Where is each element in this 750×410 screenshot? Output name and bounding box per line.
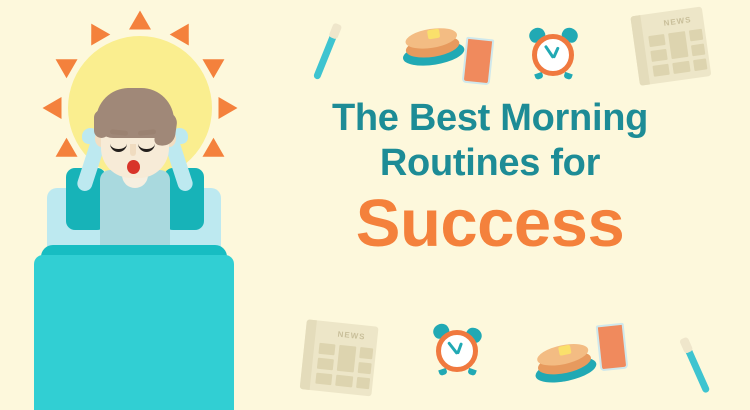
orange-juice-glass-icon [593,320,630,373]
toothbrush-bristles [328,22,342,39]
toothbrush-icon [668,323,734,397]
clock-face [532,34,574,76]
juice-glass [462,37,495,86]
butter-pat [427,29,440,40]
newspaper-fold [630,15,650,86]
banner-title: The Best Morning Routines for Success [288,96,692,258]
newspaper-block [648,34,665,47]
newspaper-photo [668,31,688,59]
title-line-2: Routines for [288,141,692,186]
orange-juice-glass-icon [459,34,496,87]
newspaper-block [358,362,372,374]
sun-ray [43,97,62,119]
toothbrush-handle [313,33,337,80]
sun-ray [219,97,238,119]
newspaper-block [689,29,703,42]
newspaper-block [652,64,669,77]
newspaper-icon: NEWS [627,3,717,91]
toothbrush-icon [302,16,367,89]
clock-foot-right [467,368,477,376]
nose [130,144,136,156]
toothbrush-handle [684,347,710,394]
newspaper-block [693,58,707,71]
morning-routines-banner: The Best Morning Routines for Success NE… [0,0,750,410]
title-accent-success: Success [288,190,692,258]
newspaper-block [317,358,334,371]
bed-blanket [34,255,234,410]
alarm-clock-icon [428,322,488,382]
newspaper-masthead: NEWS [337,330,366,342]
newspaper-block [672,61,690,74]
newspaper-block [318,343,335,356]
title-line-1: The Best Morning [288,96,692,141]
newspaper-icon: NEWS [296,316,384,402]
sun-ray [170,18,199,45]
hair-tuft [94,110,109,138]
newspaper-sheet: NEWS [300,319,379,396]
newspaper-block [650,49,667,62]
sun-ray [82,18,111,45]
newspaper-block [359,347,373,359]
mouth-yawning [127,160,140,174]
newspaper-fold [300,319,317,390]
juice-glass [596,323,629,372]
clock-face [436,330,478,372]
illustration-waking-up [0,0,300,410]
clock-hand-minute [544,45,555,59]
newspaper-block [356,377,370,389]
person-stretching [60,72,210,272]
newspaper-block [315,373,332,386]
sun-ray [129,11,151,30]
newspaper-block [335,375,353,388]
newspaper-masthead: NEWS [663,15,692,28]
newspaper-photo [337,345,357,373]
newspaper-block [691,44,705,57]
newspaper-sheet: NEWS [630,6,711,85]
alarm-clock-icon [524,26,584,86]
clock-foot-right [563,72,573,80]
